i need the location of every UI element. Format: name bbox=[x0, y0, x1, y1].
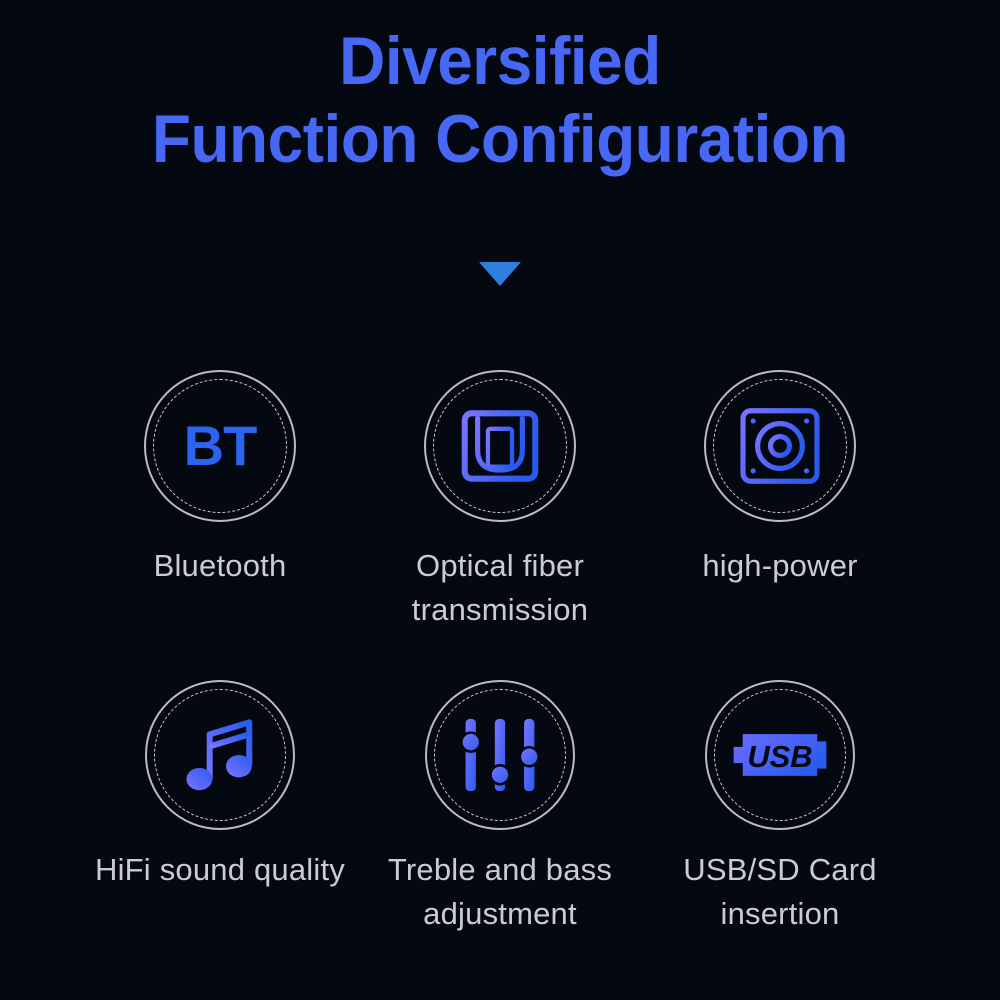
music-note-icon bbox=[177, 712, 263, 798]
feature-item-treble-bass[interactable]: Treble and bass adjustment bbox=[360, 680, 640, 990]
feature-item-hifi[interactable]: HiFi sound quality bbox=[80, 680, 360, 990]
feature-item-high-power[interactable]: high-power bbox=[640, 370, 920, 680]
feature-label-hifi: HiFi sound quality bbox=[95, 848, 345, 892]
feature-label-bluetooth: Bluetooth bbox=[154, 544, 287, 588]
feature-label-optical-fiber: Optical fiber transmission bbox=[365, 544, 635, 632]
usb-plug-icon: USB bbox=[730, 723, 830, 787]
feature-badge-high-power bbox=[704, 370, 856, 522]
feature-item-bluetooth[interactable]: BT Bluetooth bbox=[80, 370, 360, 680]
bluetooth-bt-icon: BT bbox=[184, 418, 257, 474]
feature-badge-usb-sd: USB bbox=[705, 680, 855, 830]
feature-item-usb-sd[interactable]: USB USB/SD Card insertion bbox=[640, 680, 920, 990]
feature-label-high-power: high-power bbox=[702, 544, 857, 588]
feature-grid: BT Bluetooth bbox=[80, 370, 920, 990]
feature-badge-optical-fiber bbox=[424, 370, 576, 522]
chevron-down-triangle-icon bbox=[479, 262, 521, 286]
section-divider-arrow bbox=[0, 262, 1000, 286]
feature-item-optical-fiber[interactable]: Optical fiber transmission bbox=[360, 370, 640, 680]
equalizer-sliders-icon bbox=[457, 712, 543, 798]
page-title-line-1: Diversified bbox=[30, 22, 970, 100]
feature-badge-bluetooth: BT bbox=[144, 370, 296, 522]
feature-label-usb-sd: USB/SD Card insertion bbox=[645, 848, 915, 936]
feature-badge-treble-bass bbox=[425, 680, 575, 830]
page-title-line-2: Function Configuration bbox=[30, 100, 970, 178]
speaker-driver-icon bbox=[737, 403, 823, 489]
usb-plug-icon-text: USB bbox=[747, 739, 812, 774]
feature-badge-hifi bbox=[145, 680, 295, 830]
feature-label-treble-bass: Treble and bass adjustment bbox=[365, 848, 635, 936]
optical-fiber-port-icon bbox=[457, 403, 543, 489]
page-title: Diversified Function Configuration bbox=[0, 22, 1000, 178]
